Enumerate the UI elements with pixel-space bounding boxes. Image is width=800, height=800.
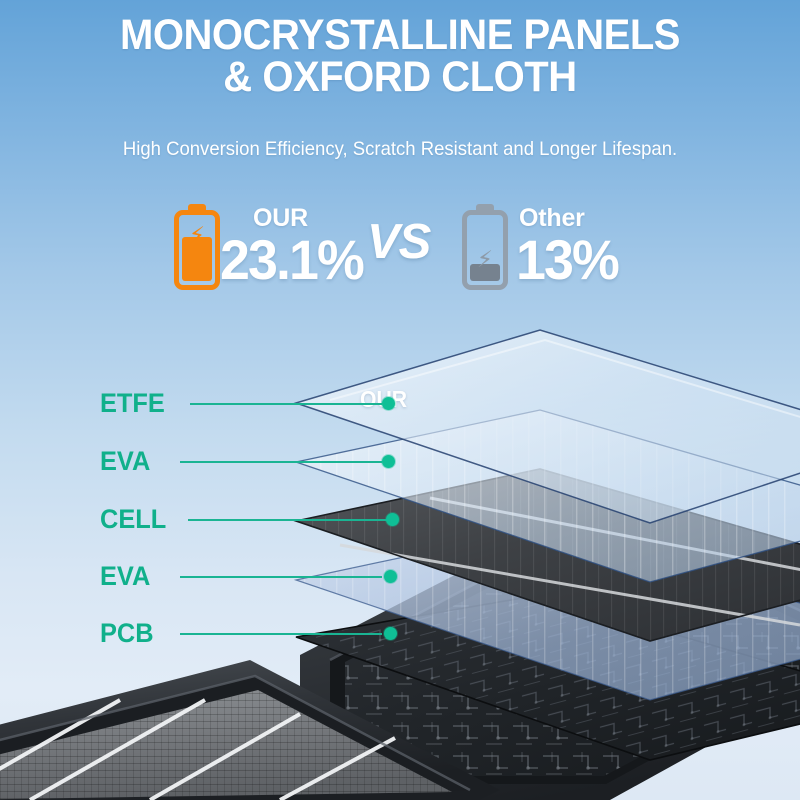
title-line-2: & OXFORD CLOTH — [28, 56, 772, 98]
infographic-canvas: MONOCRYSTALLINE PANELS & OXFORD CLOTH Hi… — [0, 0, 800, 800]
layer-eva-lower — [296, 528, 800, 700]
callout-label: ETFE — [100, 388, 165, 418]
leader-line — [188, 519, 388, 521]
title-line-1: MONOCRYSTALLINE PANELS — [120, 11, 680, 59]
leader-dot — [384, 570, 397, 583]
leader-line — [180, 461, 382, 463]
callout-label: PCB — [100, 618, 154, 648]
page-subtitle: High Conversion Efficiency, Scratch Resi… — [20, 138, 780, 161]
our-efficiency-value: 23.1% — [220, 232, 363, 288]
panel-cell-surface — [0, 690, 452, 800]
other-efficiency-value: 13% — [516, 232, 618, 288]
efficiency-comparison: ⚡ OUR 23.1% VS ⚡ Other 13% — [0, 196, 800, 308]
layer-etfe — [296, 330, 800, 523]
leader-line — [180, 576, 382, 578]
layer-cell — [296, 469, 800, 641]
product-panel-left — [0, 660, 500, 800]
callout-label: EVA — [100, 446, 150, 476]
page-title: MONOCRYSTALLINE PANELS & OXFORD CLOTH — [28, 14, 772, 98]
battery-charging-icon: ⚡ — [174, 204, 220, 290]
leader-dot — [382, 397, 395, 410]
callout-label: EVA — [100, 561, 150, 591]
cell-busbars — [340, 498, 800, 625]
leader-dot — [382, 455, 395, 468]
busbar-lines — [0, 700, 395, 800]
leader-line — [180, 633, 382, 635]
panel-circuit-surface — [345, 530, 800, 776]
vs-label: VS — [367, 218, 430, 267]
lightning-bolt-icon: ⚡ — [189, 224, 205, 247]
layer-eva-upper — [296, 410, 800, 582]
product-panel-right — [300, 500, 800, 800]
battery-low-icon: ⚡ — [462, 204, 508, 290]
layer-pcb — [296, 595, 800, 760]
lightning-bolt-icon: ⚡ — [477, 248, 493, 271]
leader-dot — [386, 513, 399, 526]
callout-label: CELL — [100, 504, 166, 534]
leader-line — [190, 403, 382, 405]
leader-dot — [384, 627, 397, 640]
